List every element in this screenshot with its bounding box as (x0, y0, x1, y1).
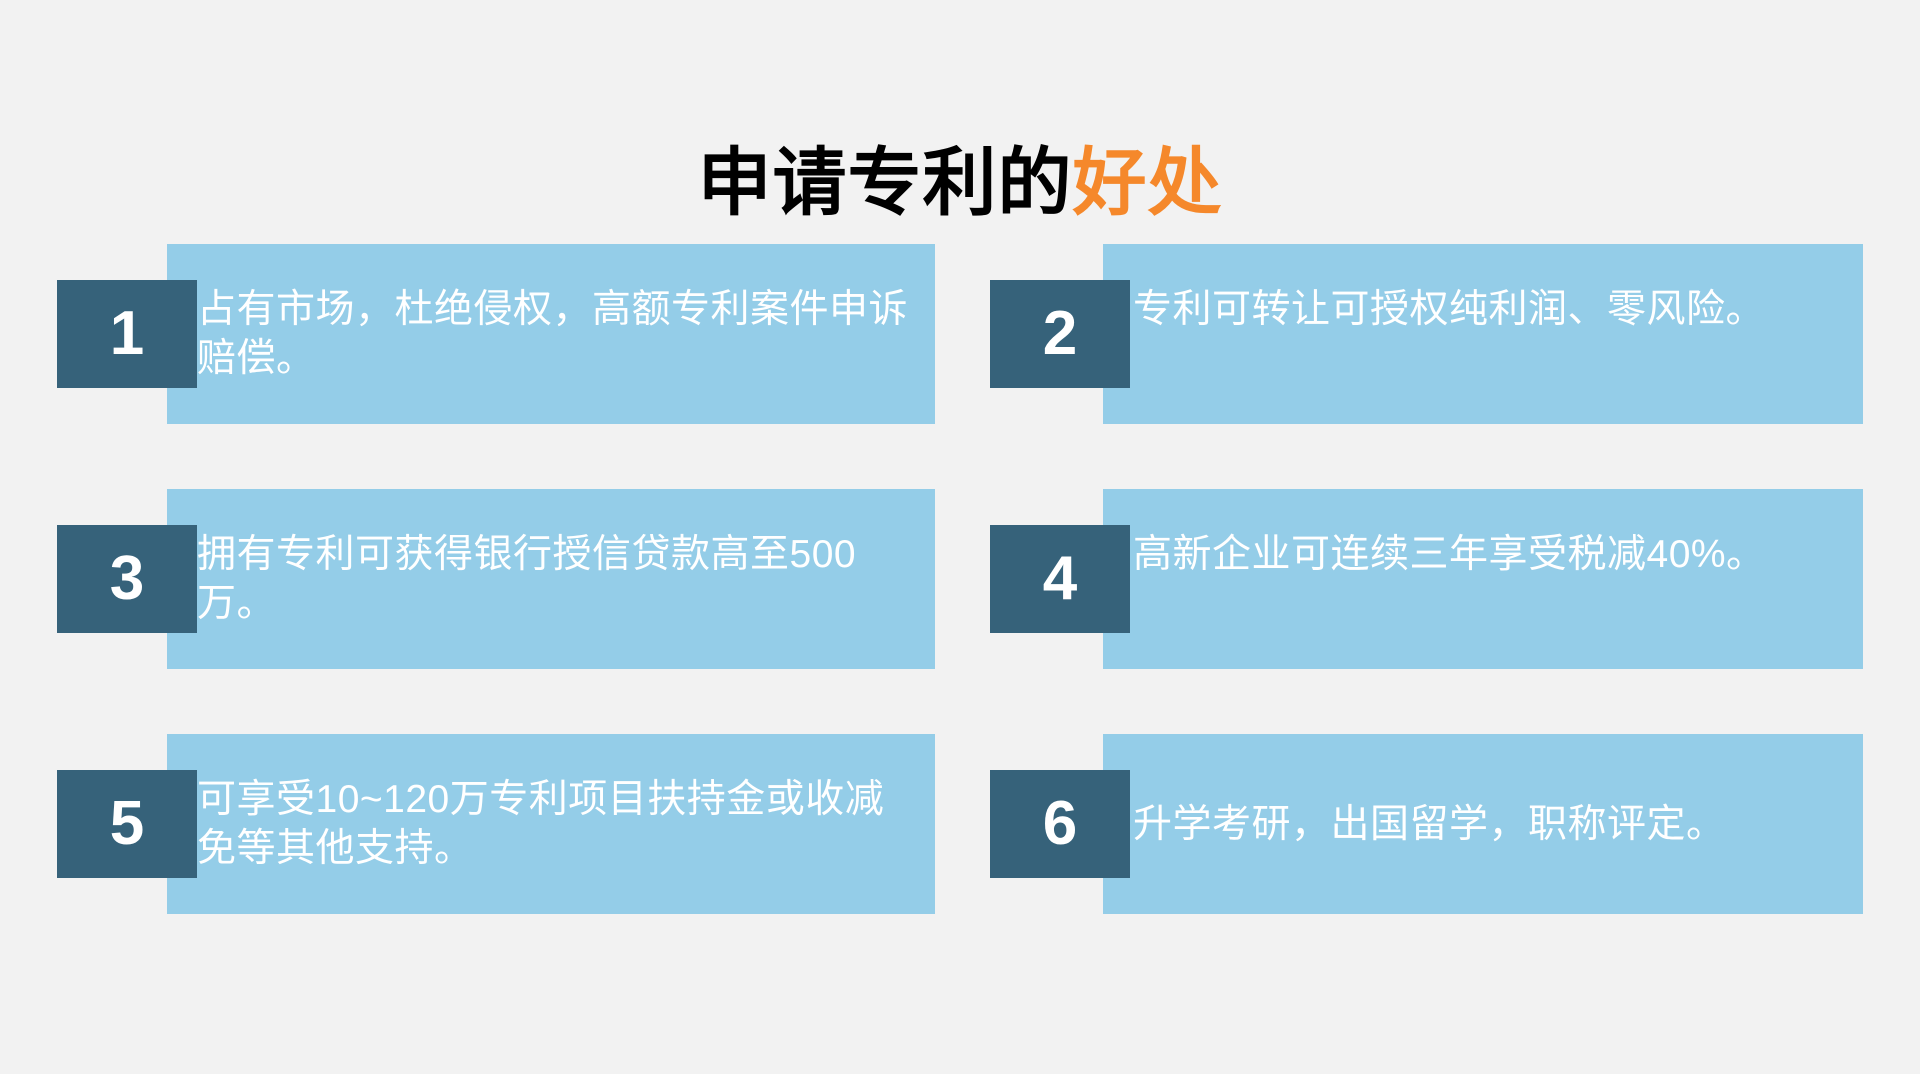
benefit-card-1[interactable]: 1 占有市场，杜绝侵权，高额专利案件申诉赔偿。 (0, 244, 960, 424)
benefit-card-3-number: 3 (57, 525, 197, 633)
benefit-card-3-text: 拥有专利可获得银行授信贷款高至500万。 (197, 530, 919, 628)
benefit-card-4-text: 高新企业可连续三年享受税减40%。 (1133, 530, 1859, 579)
benefit-card-2-panel (1103, 244, 1863, 424)
benefit-card-4[interactable]: 4 高新企业可连续三年享受税减40%。 (960, 489, 1920, 669)
benefit-card-5[interactable]: 5 可享受10~120万专利项目扶持金或收减免等其他支持。 (0, 734, 960, 914)
benefit-card-6[interactable]: 6 升学考研，出国留学，职称评定。 (960, 734, 1920, 914)
benefit-card-3[interactable]: 3 拥有专利可获得银行授信贷款高至500万。 (0, 489, 960, 669)
benefit-card-6-text: 升学考研，出国留学，职称评定。 (1133, 800, 1859, 849)
benefit-card-4-panel (1103, 489, 1863, 669)
benefit-card-2-text: 专利可转让可授权纯利润、零风险。 (1133, 285, 1859, 334)
benefit-card-5-text: 可享受10~120万专利项目扶持金或收减免等其他支持。 (197, 775, 919, 873)
benefit-card-1-number: 1 (57, 280, 197, 388)
benefit-card-2[interactable]: 2 专利可转让可授权纯利润、零风险。 (960, 244, 1920, 424)
benefit-card-5-number: 5 (57, 770, 197, 878)
benefits-card-grid: 1 占有市场，杜绝侵权，高额专利案件申诉赔偿。 2 专利可转让可授权纯利润、零风… (0, 0, 1920, 1074)
benefit-card-1-text: 占有市场，杜绝侵权，高额专利案件申诉赔偿。 (197, 285, 919, 383)
benefit-card-6-number: 6 (990, 770, 1130, 878)
benefit-card-4-number: 4 (990, 525, 1130, 633)
benefit-card-2-number: 2 (990, 280, 1130, 388)
